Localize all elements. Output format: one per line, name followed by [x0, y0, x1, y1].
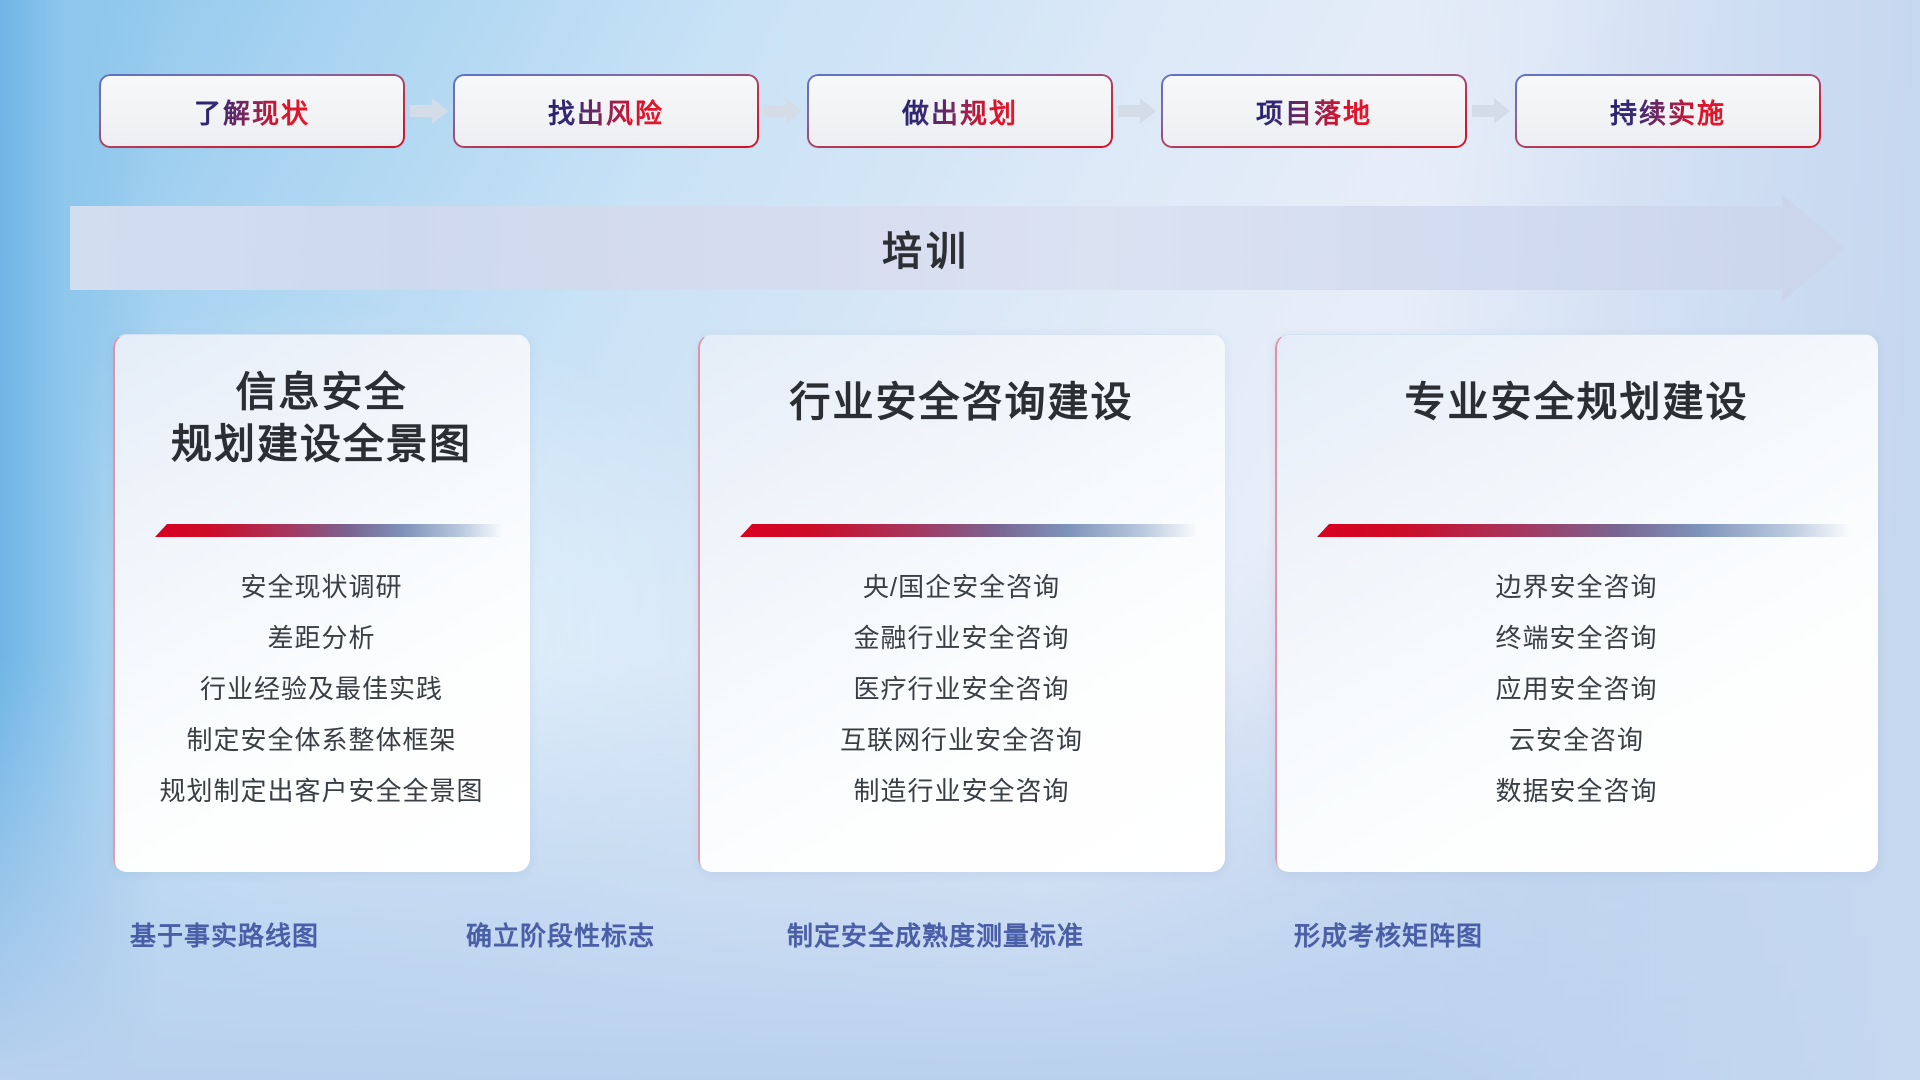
- list-item: 医疗行业安全咨询: [698, 676, 1225, 702]
- step-connector-3: [1111, 76, 1163, 146]
- step-pill-4[interactable]: 项目落地: [1163, 76, 1465, 146]
- list-item: 数据安全咨询: [1275, 778, 1878, 804]
- banner-label: 培训: [70, 206, 1782, 290]
- arrow-right-icon: [410, 98, 448, 124]
- card-info-security-blueprint[interactable]: 信息安全 规划建设全景图 安全现状调研 差距分析 行业经验及最佳实践 制定安全体…: [113, 334, 530, 872]
- card-title-2-line1: 行业安全咨询建设: [698, 376, 1225, 428]
- list-item: 金融行业安全咨询: [698, 625, 1225, 651]
- card-items-1: 安全现状调研 差距分析 行业经验及最佳实践 制定安全体系整体框架 规划制定出客户…: [113, 574, 530, 829]
- card-industry-security-consulting[interactable]: 行业安全咨询建设 央/国企安全咨询 金融行业安全咨询 医疗行业安全咨询 互联网行…: [698, 334, 1225, 872]
- card-professional-security-planning[interactable]: 专业安全规划建设 边界安全咨询 终端安全咨询 应用安全咨询 云安全咨询 数据安全…: [1275, 334, 1878, 872]
- step-pill-1[interactable]: 了解现状: [101, 76, 403, 146]
- step-label-3: 做出规划: [902, 92, 1018, 131]
- step-label-5: 持续实施: [1610, 92, 1726, 131]
- step-pill-5[interactable]: 持续实施: [1517, 76, 1819, 146]
- card-title-1-line2: 规划建设全景图: [113, 418, 530, 470]
- card-title-1-line1: 信息安全: [113, 366, 530, 418]
- card-items-3: 边界安全咨询 终端安全咨询 应用安全咨询 云安全咨询 数据安全咨询: [1275, 574, 1878, 829]
- card-divider-2: [740, 524, 1197, 537]
- footer-label-1: 基于事实路线图: [130, 916, 319, 953]
- step-pill-2[interactable]: 找出风险: [455, 76, 757, 146]
- list-item: 制定安全体系整体框架: [113, 727, 530, 753]
- process-steps: 了解现状 找出风险 做出规划 项目落地 持续实施: [0, 76, 1920, 146]
- step-connector-4: [1465, 76, 1517, 146]
- card-divider-3: [1317, 524, 1850, 537]
- footer-label-3: 制定安全成熟度测量标准: [787, 916, 1084, 953]
- card-items-2: 央/国企安全咨询 金融行业安全咨询 医疗行业安全咨询 互联网行业安全咨询 制造行…: [698, 574, 1225, 829]
- list-item: 行业经验及最佳实践: [113, 676, 530, 702]
- list-item: 央/国企安全咨询: [698, 574, 1225, 600]
- list-item: 规划制定出客户安全全景图: [113, 778, 530, 804]
- card-title-2: 行业安全咨询建设: [698, 376, 1225, 428]
- step-pill-3[interactable]: 做出规划: [809, 76, 1111, 146]
- list-item: 边界安全咨询: [1275, 574, 1878, 600]
- step-connector-2: [757, 76, 809, 146]
- footer-label-4: 形成考核矩阵图: [1294, 916, 1483, 953]
- step-label-2: 找出风险: [548, 92, 664, 131]
- list-item: 制造行业安全咨询: [698, 778, 1225, 804]
- footer-labels: 基于事实路线图 确立阶段性标志 制定安全成熟度测量标准 形成考核矩阵图: [0, 916, 1920, 966]
- training-banner: 培训: [70, 206, 1845, 290]
- card-title-3-line1: 专业安全规划建设: [1275, 376, 1878, 428]
- list-item: 互联网行业安全咨询: [698, 727, 1225, 753]
- arrow-right-icon: [1118, 98, 1156, 124]
- list-item: 应用安全咨询: [1275, 676, 1878, 702]
- card-title-1: 信息安全 规划建设全景图: [113, 366, 530, 471]
- arrow-right-icon: [764, 98, 802, 124]
- list-item: 云安全咨询: [1275, 727, 1878, 753]
- card-divider-1: [155, 524, 502, 537]
- card-title-3: 专业安全规划建设: [1275, 376, 1878, 428]
- list-item: 差距分析: [113, 625, 530, 651]
- step-label-1: 了解现状: [194, 92, 310, 131]
- banner-arrow-tip-icon: [1782, 194, 1845, 302]
- footer-label-2: 确立阶段性标志: [466, 916, 655, 953]
- card-group: 信息安全 规划建设全景图 安全现状调研 差距分析 行业经验及最佳实践 制定安全体…: [0, 334, 1920, 874]
- step-label-4: 项目落地: [1256, 92, 1372, 131]
- list-item: 终端安全咨询: [1275, 625, 1878, 651]
- arrow-right-icon: [1472, 98, 1510, 124]
- step-connector-1: [403, 76, 455, 146]
- list-item: 安全现状调研: [113, 574, 530, 600]
